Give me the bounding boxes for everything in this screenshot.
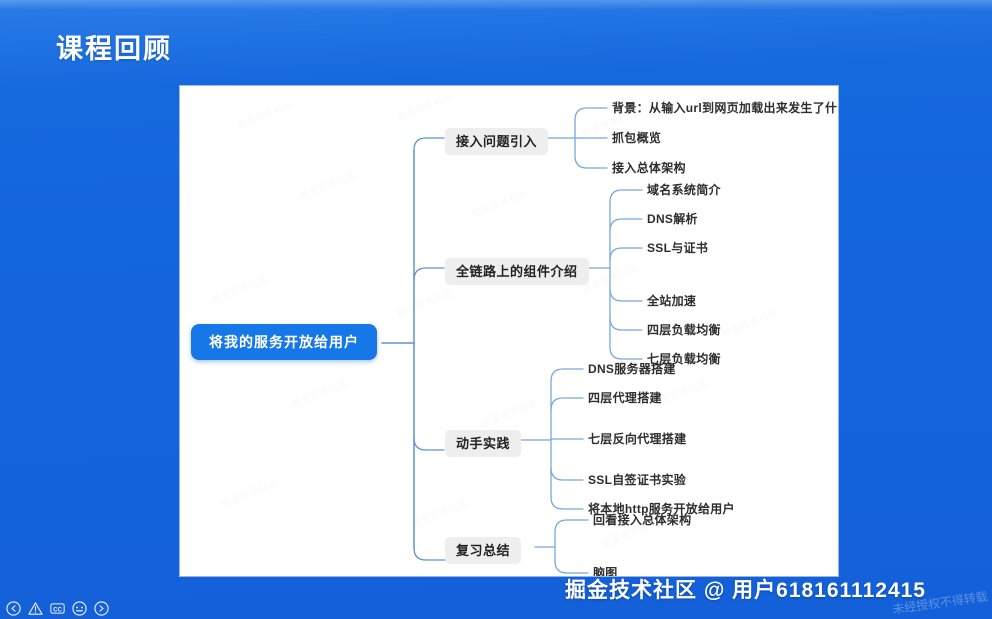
- chat-icon[interactable]: [72, 601, 87, 616]
- canvas-watermark: 掘金技术社区: [410, 495, 471, 530]
- presentation-screen: 课程回顾 掘金技术社区 掘金技术社区 掘金技术社区 掘金技术社区 掘金技术社区 …: [0, 0, 992, 619]
- canvas-watermark: 掘金技术社区: [290, 375, 351, 410]
- mindmap-branch-node-3[interactable]: 动手实践: [445, 430, 521, 457]
- mindmap-leaf-node[interactable]: 四层负载均衡: [647, 324, 721, 336]
- mindmap-leaf-node[interactable]: 七层反向代理搭建: [588, 433, 686, 445]
- mindmap-leaf-node[interactable]: 四层代理搭建: [588, 392, 662, 404]
- closed-captions-icon[interactable]: CC: [50, 601, 65, 616]
- page-title: 课程回顾: [56, 27, 172, 66]
- canvas-watermark: 掘金技术社区: [298, 167, 359, 202]
- back-icon[interactable]: [6, 601, 21, 616]
- canvas-watermark: 掘金技术社区: [220, 475, 281, 510]
- mindmap-leaf-node[interactable]: 域名系统简介: [647, 184, 721, 196]
- canvas-watermark: 掘金技术社区: [395, 285, 456, 320]
- bottom-watermark: 掘金技术社区 @ 用户618161112415: [565, 574, 926, 604]
- canvas-watermark: 掘金技术社区: [470, 185, 531, 220]
- canvas-watermark: 掘金技术社区: [580, 260, 641, 295]
- mindmap-leaf-node[interactable]: 抓包概览: [612, 132, 661, 144]
- slide-canvas: 掘金技术社区 掘金技术社区 掘金技术社区 掘金技术社区 掘金技术社区 掘金技术社…: [180, 86, 838, 576]
- mindmap-branch-node-2[interactable]: 全链路上的组件介绍: [445, 258, 589, 285]
- mindmap-leaf-node[interactable]: DNS服务器搭建: [588, 363, 676, 375]
- warning-icon[interactable]: [28, 601, 43, 616]
- mindmap-leaf-node[interactable]: SSL自签证书实验: [588, 474, 686, 486]
- mindmap-leaf-node[interactable]: SSL与证书: [647, 242, 708, 254]
- canvas-watermark: 掘金技术社区: [480, 395, 541, 430]
- player-toolbar: CC: [0, 597, 115, 619]
- mindmap-branch-node-1[interactable]: 接入问题引入: [445, 128, 548, 155]
- canvas-watermark: 掘金技术社区: [720, 305, 781, 340]
- mindmap-root-node[interactable]: 将我的服务开放给用户: [191, 324, 377, 360]
- svg-text:CC: CC: [53, 607, 62, 613]
- canvas-watermark: 掘金技术社区: [210, 271, 271, 306]
- canvas-watermark: 掘金技术社区: [395, 89, 456, 124]
- mindmap-leaf-node[interactable]: 背景：从输入url到网页加载出来发生了什么: [612, 102, 838, 114]
- mindmap-leaf-node[interactable]: 回看接入总体架构: [593, 514, 691, 526]
- mindmap-leaf-node[interactable]: DNS解析: [647, 213, 698, 225]
- mindmap-leaf-node[interactable]: 接入总体架构: [612, 162, 686, 174]
- canvas-watermark: 掘金技术社区: [235, 97, 296, 132]
- forward-icon[interactable]: [94, 601, 109, 616]
- mindmap-branch-node-4[interactable]: 复习总结: [445, 537, 521, 564]
- mindmap-leaf-node[interactable]: 全站加速: [647, 295, 696, 307]
